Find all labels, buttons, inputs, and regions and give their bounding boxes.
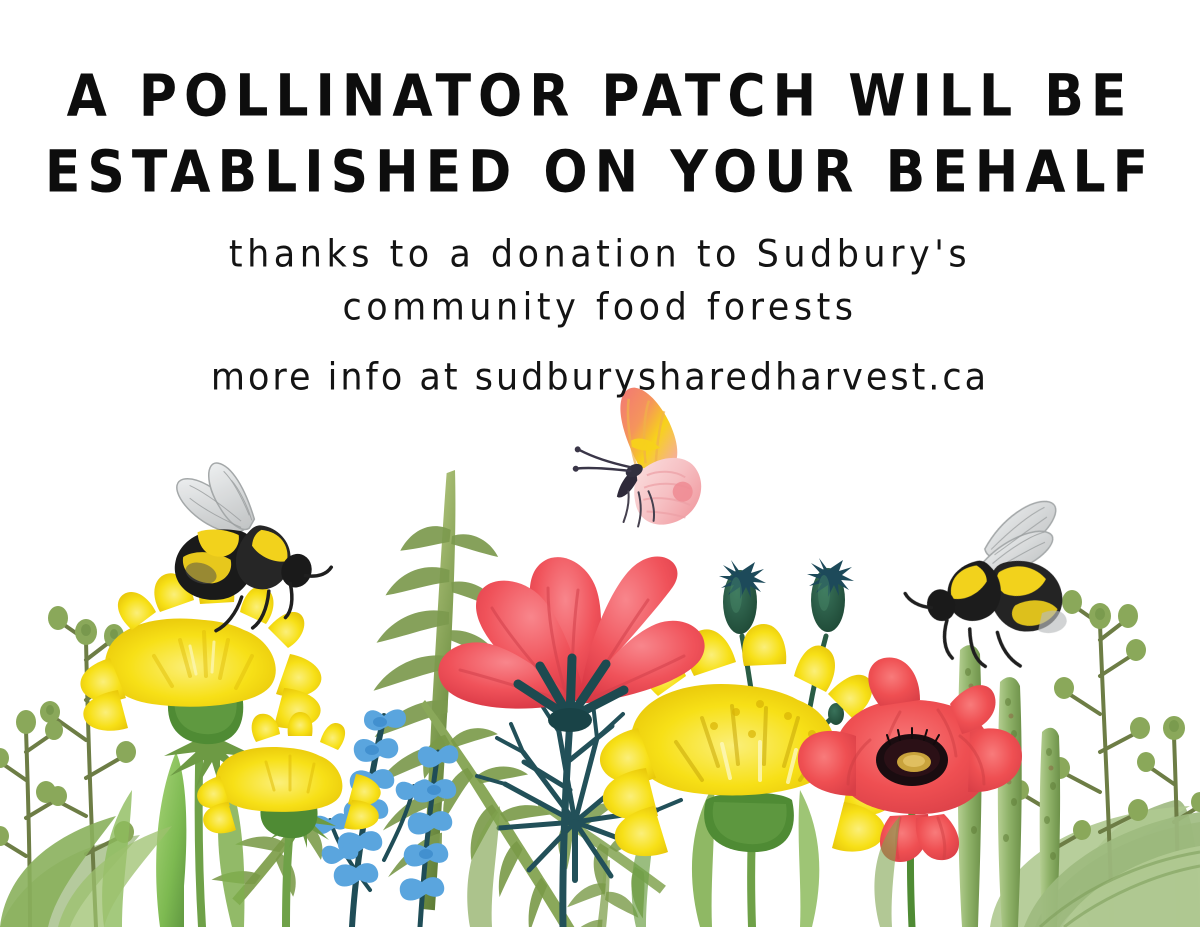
pollinator-patch-card: A POLLINATOR PATCH WILL BE ESTABLISHED O… [0,0,1200,927]
page-title: A POLLINATOR PATCH WILL BE ESTABLISHED O… [0,0,1200,211]
card-text-block: A POLLINATOR PATCH WILL BE ESTABLISHED O… [0,0,1200,398]
poppy-red-flower [798,657,1022,927]
headline-line-1: A POLLINATOR PATCH WILL BE [0,58,1200,134]
website-link[interactable]: more info at sudburysharedharvest.ca [0,326,1200,402]
bumblebee-right [892,498,1091,688]
subtitle-line-1: thanks to a donation to Sudbury's [0,228,1200,281]
butterfly [565,382,705,534]
subtitle: thanks to a donation to Sudbury's commun… [0,188,1200,334]
